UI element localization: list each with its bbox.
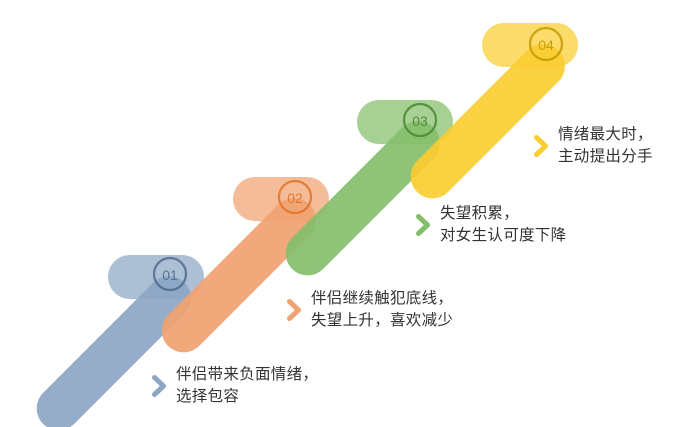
caption-line-2: 对女生认可度下降 xyxy=(440,225,566,247)
arrow-steps-artwork: 01 02 03 04 xyxy=(0,0,700,427)
chevron-right-icon xyxy=(152,375,167,397)
step-caption-text-02: 伴侣继续触犯底线， 失望上升，喜欢减少 xyxy=(311,288,453,332)
step-caption-text-03: 失望积累， 对女生认可度下降 xyxy=(440,203,566,247)
caption-line-1: 伴侣带来负面情绪， xyxy=(176,366,318,383)
chevron-right-icon xyxy=(287,299,302,321)
chevron-right-icon xyxy=(416,214,431,236)
step-number-04: 04 xyxy=(538,37,554,53)
step-caption-01: 伴侣带来负面情绪， 选择包容 xyxy=(152,364,318,408)
infographic-canvas: 01 02 03 04 伴侣带来负面情绪， 选择包容 伴侣继续触犯底线， xyxy=(0,0,700,427)
caption-line-1: 伴侣继续触犯底线， xyxy=(311,290,453,307)
caption-line-2: 主动提出分手 xyxy=(558,146,653,168)
chevron-right-icon xyxy=(534,135,549,157)
step-number-01: 01 xyxy=(162,267,178,283)
caption-line-1: 失望积累， xyxy=(440,205,519,222)
step-caption-02: 伴侣继续触犯底线， 失望上升，喜欢减少 xyxy=(287,288,453,332)
step-caption-text-01: 伴侣带来负面情绪， 选择包容 xyxy=(176,364,318,408)
caption-line-2: 失望上升，喜欢减少 xyxy=(311,310,453,332)
caption-line-1: 情绪最大时， xyxy=(558,126,653,143)
step-caption-04: 情绪最大时， 主动提出分手 xyxy=(534,124,653,168)
step-caption-text-04: 情绪最大时， 主动提出分手 xyxy=(558,124,653,168)
caption-line-2: 选择包容 xyxy=(176,386,318,408)
step-caption-03: 失望积累， 对女生认可度下降 xyxy=(416,203,566,247)
step-number-02: 02 xyxy=(287,190,303,206)
step-number-03: 03 xyxy=(412,113,428,129)
